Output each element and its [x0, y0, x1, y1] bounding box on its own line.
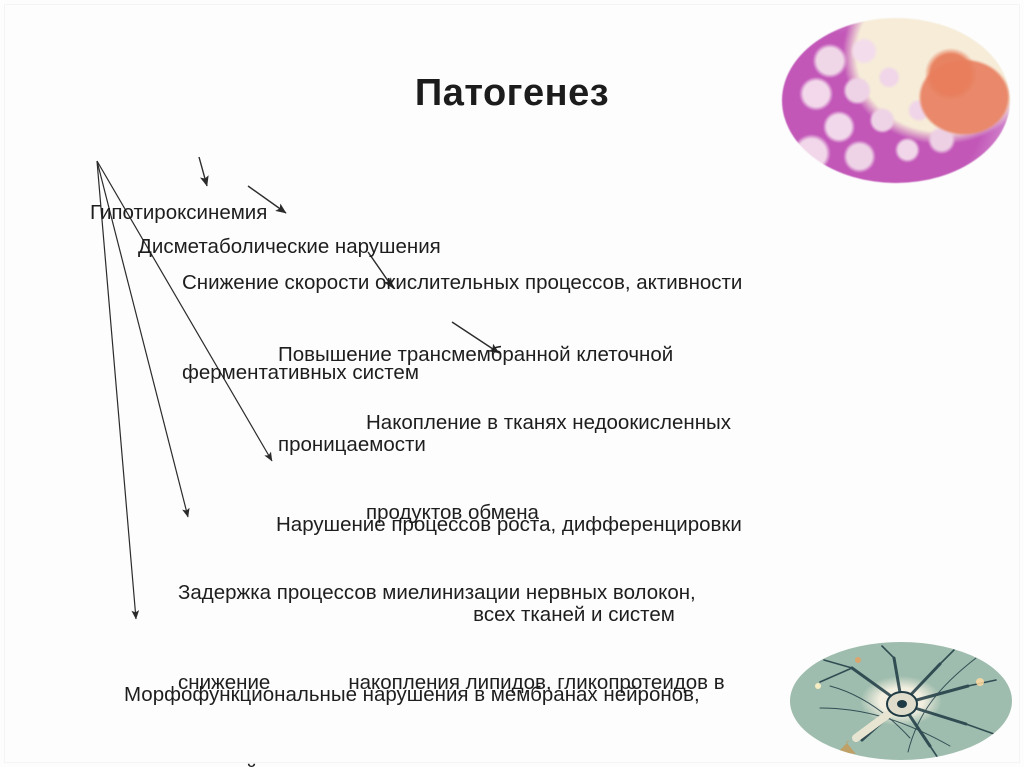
thyroid-histology-image — [782, 18, 1010, 183]
text-line: Морфофункциональные нарушения в мембрана… — [124, 680, 884, 710]
text-line: Задержка процессов миелинизации нервных … — [178, 578, 878, 608]
neuron-illustration-image — [790, 642, 1012, 760]
text-block-morphofunctional: Морфофункциональные нарушения в мембрана… — [124, 620, 884, 767]
neuron-icon — [790, 642, 1012, 760]
text-line: Накопление в тканях недоокисленных — [366, 408, 926, 438]
slide-canvas: Патогенез Гипотироксинемия Дисметаболиче… — [0, 0, 1024, 767]
